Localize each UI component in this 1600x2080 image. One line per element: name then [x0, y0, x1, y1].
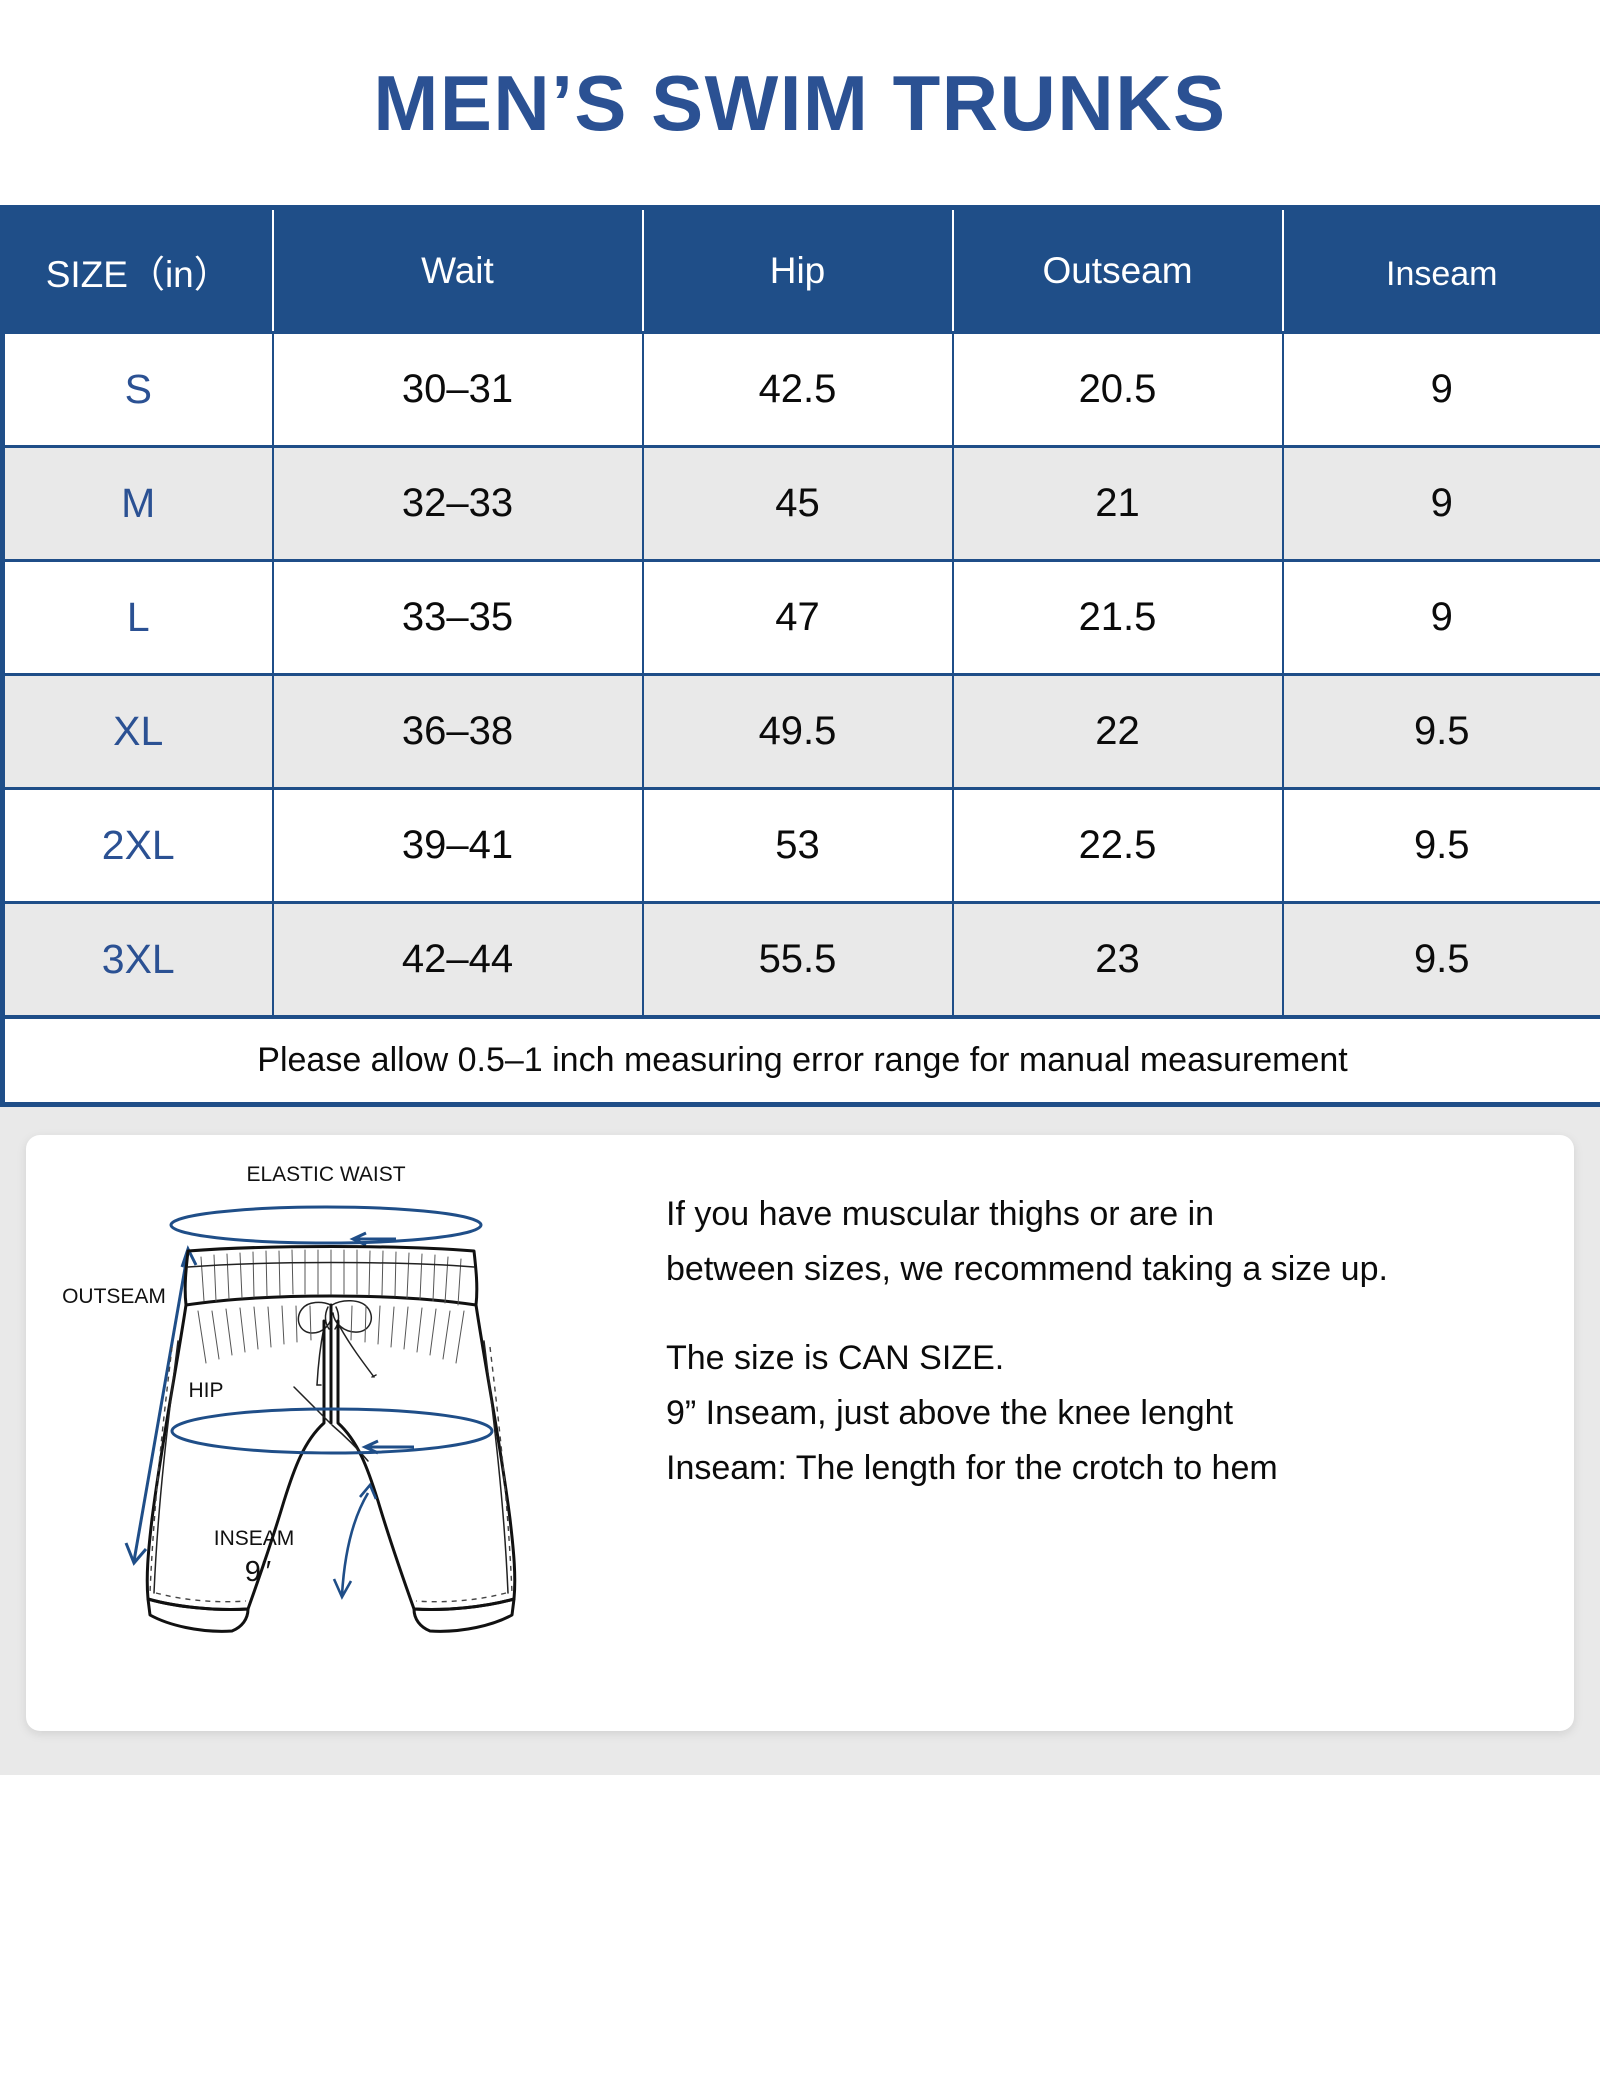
cell-size: 2XL	[3, 789, 273, 903]
table-header: SIZE（in） Wait Hip Outseam Inseam	[3, 208, 1600, 333]
column-header-outseam: Outseam	[953, 208, 1283, 333]
label-outseam: OUTSEAM	[62, 1285, 166, 1308]
cell-waist: 36–38	[273, 675, 643, 789]
label-inseam-value: 9″	[245, 1556, 271, 1588]
cell-inseam: 9.5	[1283, 789, 1600, 903]
notes-spacer	[666, 1297, 1566, 1331]
cell-size: M	[3, 447, 273, 561]
cell-size: 3XL	[3, 903, 273, 1017]
cell-inseam: 9	[1283, 561, 1600, 675]
label-inseam: INSEAM	[214, 1527, 295, 1550]
cell-waist: 42–44	[273, 903, 643, 1017]
table-body: S 30–31 42.5 20.5 9 M 32–33 45 21 9 L 33…	[3, 333, 1600, 1017]
sizing-notes: If you have muscular thighs or are in be…	[666, 1187, 1566, 1496]
cell-waist: 33–35	[273, 561, 643, 675]
cell-hip: 47	[643, 561, 953, 675]
cell-inseam: 9	[1283, 447, 1600, 561]
cell-outseam: 20.5	[953, 333, 1283, 447]
note-line-4: 9” Inseam, just above the knee lenght	[666, 1386, 1566, 1441]
cell-hip: 55.5	[643, 903, 953, 1017]
cell-outseam: 21	[953, 447, 1283, 561]
page-title: MEN’S SWIM TRUNKS	[373, 64, 1226, 142]
column-header-inseam: Inseam	[1283, 208, 1600, 333]
cell-size: S	[3, 333, 273, 447]
info-card: ELASTIC WAIST OUTSEAM	[26, 1135, 1574, 1731]
cell-hip: 42.5	[643, 333, 953, 447]
table-row: S 30–31 42.5 20.5 9	[3, 333, 1600, 447]
table-row: M 32–33 45 21 9	[3, 447, 1600, 561]
cell-outseam: 22	[953, 675, 1283, 789]
cell-size: L	[3, 561, 273, 675]
cell-hip: 53	[643, 789, 953, 903]
title-bar: MEN’S SWIM TRUNKS	[0, 0, 1600, 205]
swim-trunks-diagram: ELASTIC WAIST OUTSEAM	[36, 1141, 636, 1721]
column-header-waist: Wait	[273, 208, 643, 333]
cell-waist: 39–41	[273, 789, 643, 903]
cell-size: XL	[3, 675, 273, 789]
table-row: 3XL 42–44 55.5 23 9.5	[3, 903, 1600, 1017]
cell-hip: 45	[643, 447, 953, 561]
cell-outseam: 21.5	[953, 561, 1283, 675]
footnote-row: Please allow 0.5–1 inch measuring error …	[3, 1017, 1600, 1105]
cell-outseam: 23	[953, 903, 1283, 1017]
table-row: XL 36–38 49.5 22 9.5	[3, 675, 1600, 789]
cell-inseam: 9.5	[1283, 675, 1600, 789]
header-row: SIZE（in） Wait Hip Outseam Inseam	[3, 208, 1600, 333]
label-hip: HIP	[188, 1379, 223, 1402]
size-chart-table: SIZE（in） Wait Hip Outseam Inseam S 30–31…	[0, 205, 1600, 1107]
cell-waist: 30–31	[273, 333, 643, 447]
note-line-3: The size is CAN SIZE.	[666, 1331, 1566, 1386]
note-line-1: If you have muscular thighs or are in	[666, 1187, 1566, 1242]
info-panel-area: ELASTIC WAIST OUTSEAM	[0, 1107, 1600, 1775]
table-row: L 33–35 47 21.5 9	[3, 561, 1600, 675]
label-elastic-waist: ELASTIC WAIST	[246, 1163, 405, 1186]
column-header-hip: Hip	[643, 208, 953, 333]
cell-inseam: 9	[1283, 333, 1600, 447]
size-chart-page: MEN’S SWIM TRUNKS SIZE（in） Wait Hip Outs…	[0, 0, 1600, 2080]
measurement-footnote: Please allow 0.5–1 inch measuring error …	[3, 1017, 1600, 1105]
note-line-2: between sizes, we recommend taking a siz…	[666, 1242, 1566, 1297]
column-header-size: SIZE（in）	[3, 208, 273, 333]
cell-hip: 49.5	[643, 675, 953, 789]
cell-waist: 32–33	[273, 447, 643, 561]
table-row: 2XL 39–41 53 22.5 9.5	[3, 789, 1600, 903]
cell-inseam: 9.5	[1283, 903, 1600, 1017]
note-line-5: Inseam: The length for the crotch to hem	[666, 1441, 1566, 1496]
cell-outseam: 22.5	[953, 789, 1283, 903]
table-footer: Please allow 0.5–1 inch measuring error …	[3, 1017, 1600, 1105]
